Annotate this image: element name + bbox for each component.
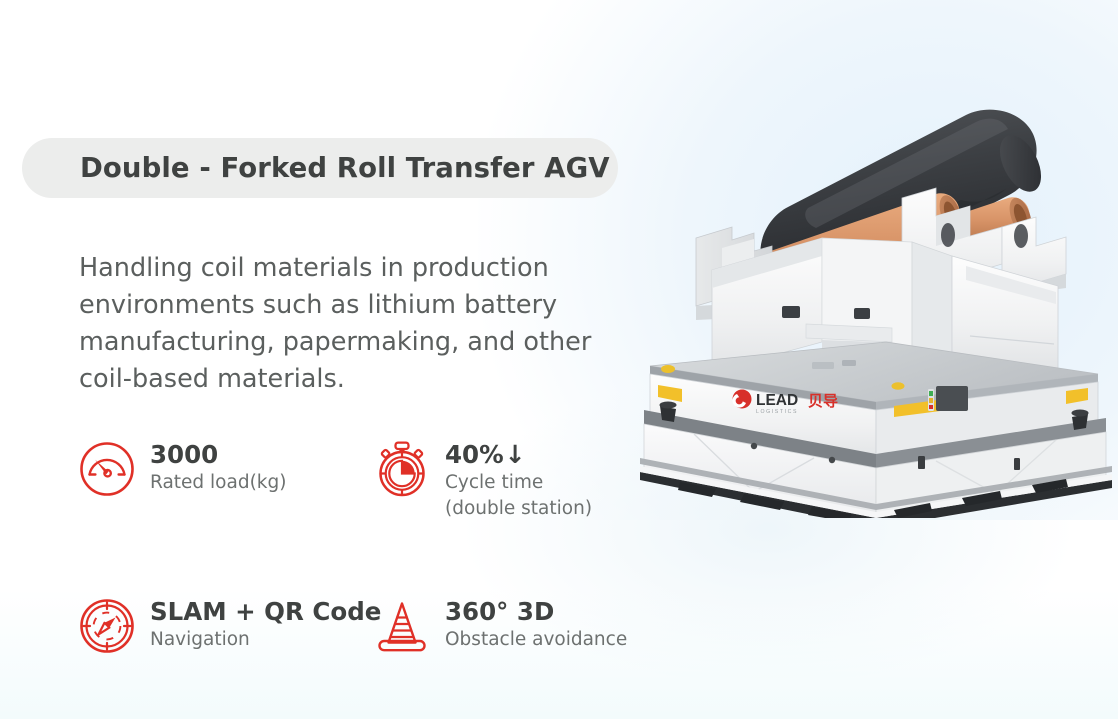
feature-value-number: 3000 bbox=[150, 440, 218, 469]
feature-value: 40% ↓ bbox=[445, 440, 592, 469]
product-description: Handling coil materials in production en… bbox=[79, 250, 639, 398]
product-slide: Double - Forked Roll Transfer AGV Handli… bbox=[0, 0, 1118, 719]
feature-cycle-time: 40% ↓ Cycle time (double station) bbox=[373, 438, 668, 522]
feature-label: Cycle time bbox=[445, 470, 592, 496]
arrow-down-icon: ↓ bbox=[505, 440, 526, 469]
feature-value: 3000 bbox=[150, 440, 286, 469]
svg-text:LEAD: LEAD bbox=[756, 392, 798, 409]
feature-value-number: 360° 3D bbox=[445, 597, 554, 626]
traffic-cone-icon bbox=[373, 597, 431, 655]
feature-value-number: SLAM + QR Code bbox=[150, 597, 381, 626]
feature-text: 3000 Rated load(kg) bbox=[150, 438, 286, 496]
feature-grid: 3000 Rated load(kg) bbox=[78, 438, 678, 655]
product-image: LEAD 贝导 LOGISTICS bbox=[636, 88, 1112, 518]
svg-text:LOGISTICS: LOGISTICS bbox=[756, 409, 798, 415]
feature-row-1: 3000 Rated load(kg) bbox=[78, 438, 678, 522]
page-title: Double - Forked Roll Transfer AGV bbox=[80, 152, 610, 184]
feature-obstacle-avoidance: 360° 3D Obstacle avoidance bbox=[373, 595, 668, 655]
page-title-pill: Double - Forked Roll Transfer AGV bbox=[22, 138, 618, 198]
gauge-icon bbox=[78, 440, 136, 498]
compass-icon bbox=[78, 597, 136, 655]
feature-value: SLAM + QR Code bbox=[150, 597, 381, 626]
feature-row-2: SLAM + QR Code Navigation bbox=[78, 595, 678, 655]
svg-text:贝导: 贝导 bbox=[808, 392, 838, 410]
feature-label: Navigation bbox=[150, 627, 381, 653]
feature-text: 360° 3D Obstacle avoidance bbox=[445, 595, 627, 653]
feature-rated-load: 3000 Rated load(kg) bbox=[78, 438, 373, 522]
feature-label-secondary: (double station) bbox=[445, 496, 592, 522]
feature-value-number: 40% bbox=[445, 440, 504, 469]
feature-label: Rated load(kg) bbox=[150, 470, 286, 496]
feature-text: SLAM + QR Code Navigation bbox=[150, 595, 381, 653]
feature-text: 40% ↓ Cycle time (double station) bbox=[445, 438, 592, 522]
stopwatch-icon bbox=[373, 440, 431, 498]
feature-label: Obstacle avoidance bbox=[445, 627, 627, 653]
feature-value: 360° 3D bbox=[445, 597, 627, 626]
feature-navigation: SLAM + QR Code Navigation bbox=[78, 595, 373, 655]
